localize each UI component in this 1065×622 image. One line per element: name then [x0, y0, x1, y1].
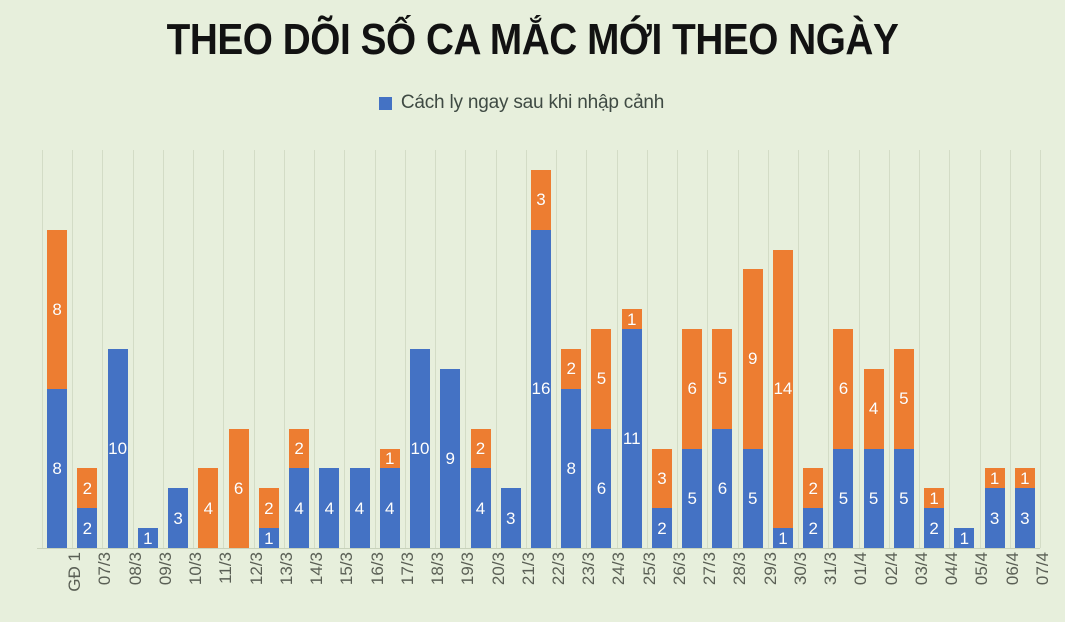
vertical-gridline — [465, 150, 466, 548]
bar-column[interactable]: 65 — [833, 329, 853, 548]
bar-value-label: 2 — [808, 480, 817, 497]
x-tick-label-text: 02/4 — [882, 552, 902, 585]
vertical-gridline — [405, 150, 406, 548]
x-tick-label: 20/3 — [489, 552, 509, 585]
bar-value-label: 1 — [929, 490, 938, 507]
bar-value-label: 8 — [52, 460, 61, 477]
bar-value-label: 6 — [687, 380, 696, 397]
bar-column[interactable]: 141 — [773, 250, 793, 549]
bar-value-label: 3 — [173, 510, 182, 527]
bar-segment-orange[interactable]: 1 — [985, 468, 1005, 488]
bar-column[interactable]: 21 — [259, 488, 279, 548]
bar-value-label: 3 — [536, 191, 545, 208]
bar-column[interactable]: 28 — [561, 349, 581, 548]
x-tick-label-text: 26/3 — [670, 552, 690, 585]
bar-value-label: 2 — [929, 520, 938, 537]
vertical-gridline — [586, 150, 587, 548]
vertical-gridline — [435, 150, 436, 548]
x-tick-label: GĐ 1 — [65, 552, 85, 592]
vertical-gridline — [707, 150, 708, 548]
x-tick-label-text: 01/4 — [851, 552, 871, 585]
bar-segment-blue[interactable]: 10 — [410, 349, 430, 548]
bar-value-label: 2 — [657, 520, 666, 537]
bar-segment-orange[interactable]: 1 — [622, 309, 642, 329]
bar-segment-orange[interactable]: 6 — [833, 329, 853, 448]
x-tick-label: 23/3 — [579, 552, 599, 585]
bar-column[interactable]: 6 — [229, 429, 249, 548]
x-tick-label-text: 20/3 — [489, 552, 509, 585]
vertical-gridline — [859, 150, 860, 548]
bar-segment-blue[interactable]: 1 — [138, 528, 158, 548]
bar-segment-blue[interactable]: 5 — [894, 449, 914, 549]
x-tick-label-text: 18/3 — [428, 552, 448, 585]
x-axis-baseline — [37, 548, 1040, 549]
vertical-gridline — [798, 150, 799, 548]
vertical-gridline — [919, 150, 920, 548]
bar-segment-orange[interactable]: 1 — [924, 488, 944, 508]
vertical-gridline — [72, 150, 73, 548]
x-tick-label: 03/4 — [912, 552, 932, 585]
bar-column[interactable]: 10 — [108, 349, 128, 548]
x-tick-label: 29/3 — [761, 552, 781, 585]
bar-column[interactable]: 9 — [440, 369, 460, 548]
x-tick-label: 09/3 — [156, 552, 176, 585]
bar-value-label: 10 — [411, 440, 430, 457]
bar-segment-orange[interactable]: 3 — [531, 170, 551, 230]
bar-segment-blue[interactable]: 9 — [440, 369, 460, 548]
vertical-gridline — [496, 150, 497, 548]
bar-segment-blue[interactable]: 6 — [591, 429, 611, 548]
bar-segment-blue[interactable]: 1 — [773, 528, 793, 548]
bar-value-label: 1 — [778, 530, 787, 547]
x-tick-label: 27/3 — [700, 552, 720, 585]
bar-segment-orange[interactable]: 5 — [894, 349, 914, 449]
x-tick-label: 10/3 — [186, 552, 206, 585]
x-tick-label-text: 08/3 — [126, 552, 146, 585]
bar-column[interactable]: 65 — [682, 329, 702, 548]
x-tick-label-text: 12/3 — [247, 552, 267, 585]
x-tick-label-text: 04/4 — [942, 552, 962, 585]
bar-column[interactable]: 3 — [501, 488, 521, 548]
x-tick-label-text: 07/3 — [95, 552, 115, 585]
bar-value-label: 2 — [567, 360, 576, 377]
bar-value-label: 5 — [839, 490, 848, 507]
x-tick-label-text: 19/3 — [458, 552, 478, 585]
bar-segment-blue[interactable]: 11 — [622, 329, 642, 548]
bar-segment-blue[interactable]: 8 — [561, 389, 581, 548]
x-tick-label-text: 13/3 — [277, 552, 297, 585]
bar-value-label: 1 — [990, 470, 999, 487]
x-tick-label-text: 05/4 — [972, 552, 992, 585]
bar-column[interactable]: 1 — [954, 528, 974, 548]
bar-value-label: 2 — [264, 500, 273, 517]
bar-segment-blue[interactable]: 16 — [531, 230, 551, 548]
bar-column[interactable]: 1 — [138, 528, 158, 548]
x-tick-label-text: 10/3 — [186, 552, 206, 585]
bar-value-label: 16 — [532, 380, 551, 397]
bar-segment-orange[interactable]: 14 — [773, 250, 793, 529]
vertical-gridline — [828, 150, 829, 548]
bar-column[interactable]: 111 — [622, 309, 642, 548]
x-tick-label: 08/3 — [126, 552, 146, 585]
bar-column[interactable]: 95 — [743, 269, 763, 548]
bar-value-label: 4 — [385, 500, 394, 517]
x-tick-label: 07/4 — [1033, 552, 1053, 585]
bar-value-label: 4 — [204, 500, 213, 517]
bar-segment-blue[interactable]: 4 — [350, 468, 370, 548]
bar-segment-blue[interactable]: 2 — [924, 508, 944, 548]
bar-column[interactable]: 55 — [894, 349, 914, 548]
bar-segment-blue[interactable]: 3 — [501, 488, 521, 548]
bar-value-label: 10 — [108, 440, 127, 457]
x-tick-label-text: 14/3 — [307, 552, 327, 585]
x-tick-label: 11/3 — [216, 552, 236, 584]
bar-segment-blue[interactable]: 4 — [319, 468, 339, 548]
bar-column[interactable]: 4 — [350, 468, 370, 548]
bar-column[interactable]: 12 — [924, 488, 944, 548]
vertical-gridline — [1010, 150, 1011, 548]
bar-segment-orange[interactable]: 2 — [77, 468, 97, 508]
chart-title: THEO DÕI SỐ CA MẮC MỚI THEO NGÀY — [64, 14, 1001, 66]
bar-value-label: 9 — [446, 450, 455, 467]
bar-segment-blue[interactable]: 3 — [168, 488, 188, 548]
bar-column[interactable]: 4 — [198, 468, 218, 548]
vertical-gridline — [375, 150, 376, 548]
bar-column[interactable]: 3 — [168, 488, 188, 548]
bar-value-label: 2 — [83, 520, 92, 537]
vertical-gridline — [102, 150, 103, 548]
bar-value-label: 5 — [899, 490, 908, 507]
bar-value-label: 1 — [627, 311, 636, 328]
x-tick-label: 12/3 — [247, 552, 267, 585]
bar-segment-blue[interactable]: 5 — [864, 449, 884, 549]
bar-segment-blue[interactable]: 4 — [289, 468, 309, 548]
x-tick-label-text: 22/3 — [549, 552, 569, 585]
x-tick-label-text: 27/3 — [700, 552, 720, 585]
bar-segment-orange[interactable]: 2 — [289, 429, 309, 469]
bar-column[interactable]: 45 — [864, 369, 884, 548]
bar-segment-blue[interactable]: 2 — [652, 508, 672, 548]
bar-segment-orange[interactable]: 2 — [561, 349, 581, 389]
vertical-gridline — [344, 150, 345, 548]
bar-value-label: 4 — [476, 500, 485, 517]
x-tick-label: 21/3 — [519, 552, 539, 585]
bar-segment-orange[interactable]: 3 — [652, 449, 672, 509]
bar-segment-blue[interactable]: 3 — [1015, 488, 1035, 548]
x-tick-label-text: 03/4 — [912, 552, 932, 585]
bar-segment-orange[interactable]: 4 — [864, 369, 884, 449]
bar-value-label: 2 — [808, 520, 817, 537]
vertical-gridline — [314, 150, 315, 548]
vertical-gridline — [42, 150, 43, 548]
bar-value-label: 3 — [657, 470, 666, 487]
bar-segment-orange[interactable]: 1 — [1015, 468, 1035, 488]
x-tick-label: 07/3 — [95, 552, 115, 585]
bar-segment-blue[interactable]: 2 — [803, 508, 823, 548]
x-tick-label-text: 09/3 — [156, 552, 176, 585]
vertical-gridline — [556, 150, 557, 548]
x-tick-label-text: 29/3 — [761, 552, 781, 585]
x-tick-label: 22/3 — [549, 552, 569, 585]
x-tick-label-text: 30/3 — [791, 552, 811, 585]
bar-value-label: 4 — [294, 500, 303, 517]
bar-segment-blue[interactable]: 3 — [985, 488, 1005, 548]
bar-segment-orange[interactable]: 2 — [259, 488, 279, 528]
vertical-gridline — [163, 150, 164, 548]
bar-segment-blue[interactable]: 5 — [743, 449, 763, 549]
x-tick-label: 30/3 — [791, 552, 811, 585]
x-tick-label: 02/4 — [882, 552, 902, 585]
vertical-gridline — [526, 150, 527, 548]
bar-segment-blue[interactable]: 8 — [47, 389, 67, 548]
chart-legend: Cách ly ngay sau khi nhập cảnh — [0, 92, 1054, 114]
x-tick-label-text: 31/3 — [821, 552, 841, 585]
vertical-gridline — [193, 150, 194, 548]
vertical-gridline — [889, 150, 890, 548]
bar-column[interactable]: 32 — [652, 449, 672, 549]
x-tick-label-text: 17/3 — [398, 552, 418, 585]
bar-value-label: 14 — [773, 380, 792, 397]
bar-value-label: 6 — [234, 480, 243, 497]
x-tick-label-text: GĐ 1 — [65, 552, 85, 592]
vertical-gridline — [738, 150, 739, 548]
vertical-gridline — [284, 150, 285, 548]
bar-segment-blue[interactable]: 2 — [77, 508, 97, 548]
vertical-gridline — [647, 150, 648, 548]
bar-segment-blue[interactable]: 4 — [471, 468, 491, 548]
bar-segment-orange[interactable]: 8 — [47, 230, 67, 389]
x-tick-label: 25/3 — [640, 552, 660, 585]
bar-segment-orange[interactable]: 6 — [229, 429, 249, 548]
bar-value-label: 2 — [294, 440, 303, 457]
x-tick-label: 24/3 — [609, 552, 629, 585]
plot-area: 8822101346212444141092433162856111326556… — [42, 150, 1040, 548]
vertical-gridline — [617, 150, 618, 548]
bar-value-label: 1 — [385, 450, 394, 467]
x-tick-label-text: 25/3 — [640, 552, 660, 585]
bar-segment-orange[interactable]: 2 — [471, 429, 491, 469]
x-tick-label-text: 15/3 — [337, 552, 357, 585]
x-tick-label: 26/3 — [670, 552, 690, 585]
bar-column[interactable]: 22 — [77, 468, 97, 548]
bar-value-label: 6 — [839, 380, 848, 397]
x-tick-label: 17/3 — [398, 552, 418, 585]
vertical-gridline — [223, 150, 224, 548]
bar-value-label: 8 — [52, 301, 61, 318]
bar-value-label: 11 — [623, 430, 641, 447]
bar-column[interactable]: 88 — [47, 230, 67, 548]
bar-value-label: 1 — [143, 530, 152, 547]
x-tick-label: 31/3 — [821, 552, 841, 585]
bar-segment-blue[interactable]: 10 — [108, 349, 128, 548]
bar-value-label: 3 — [1020, 510, 1029, 527]
x-tick-label: 06/4 — [1003, 552, 1023, 585]
bar-value-label: 4 — [355, 500, 364, 517]
bar-column[interactable]: 22 — [803, 468, 823, 548]
x-tick-label-text: 07/4 — [1033, 552, 1053, 585]
vertical-gridline — [254, 150, 255, 548]
bar-column[interactable]: 56 — [712, 329, 732, 548]
bar-value-label: 6 — [597, 480, 606, 497]
bar-column[interactable]: 13 — [1015, 468, 1035, 548]
x-tick-label: 18/3 — [428, 552, 448, 585]
bar-segment-blue[interactable]: 4 — [380, 468, 400, 548]
x-tick-label-text: 06/4 — [1003, 552, 1023, 585]
bar-column[interactable]: 10 — [410, 349, 430, 548]
x-tick-label: 28/3 — [730, 552, 750, 585]
bar-value-label: 4 — [869, 400, 878, 417]
bar-value-label: 5 — [899, 390, 908, 407]
bar-value-label: 1 — [1020, 470, 1029, 487]
bar-value-label: 5 — [687, 490, 696, 507]
x-tick-label: 16/3 — [368, 552, 388, 585]
bar-value-label: 8 — [567, 460, 576, 477]
bar-value-label: 2 — [83, 480, 92, 497]
x-tick-label: 15/3 — [337, 552, 357, 585]
plot-area-wrapper: 8822101346212444141092433162856111326556… — [42, 150, 1040, 548]
x-tick-label: 13/3 — [277, 552, 297, 585]
x-tick-label-text: 21/3 — [519, 552, 539, 585]
bar-column[interactable]: 316 — [531, 170, 551, 548]
x-tick-label-text: 28/3 — [730, 552, 750, 585]
vertical-gridline — [949, 150, 950, 548]
x-axis-labels: GĐ 107/308/309/310/311/312/313/314/315/3… — [42, 550, 1040, 622]
legend-label: Cách ly ngay sau khi nhập cảnh — [401, 92, 664, 114]
bar-column[interactable]: 4 — [319, 468, 339, 548]
bar-column[interactable]: 56 — [591, 329, 611, 548]
bar-segment-orange[interactable]: 9 — [743, 269, 763, 448]
bar-segment-orange[interactable]: 4 — [198, 468, 218, 548]
x-tick-label: 19/3 — [458, 552, 478, 585]
bar-segment-blue[interactable]: 6 — [712, 429, 732, 548]
vertical-gridline — [677, 150, 678, 548]
vertical-gridline — [133, 150, 134, 548]
bar-value-label: 3 — [506, 510, 515, 527]
bar-value-label: 4 — [325, 500, 334, 517]
bar-segment-blue[interactable]: 1 — [259, 528, 279, 548]
x-tick-label-text: 11/3 — [216, 552, 236, 584]
bar-segment-orange[interactable]: 5 — [712, 329, 732, 429]
bar-segment-orange[interactable]: 2 — [803, 468, 823, 508]
x-tick-label: 04/4 — [942, 552, 962, 585]
bar-value-label: 5 — [597, 370, 606, 387]
bar-segment-orange[interactable]: 5 — [591, 329, 611, 429]
bar-value-label: 5 — [718, 370, 727, 387]
x-tick-label-text: 24/3 — [609, 552, 629, 585]
bar-value-label: 9 — [748, 350, 757, 367]
x-tick-label-text: 16/3 — [368, 552, 388, 585]
bar-segment-blue[interactable]: 1 — [954, 528, 974, 548]
bar-column[interactable]: 24 — [289, 429, 309, 548]
bar-value-label: 1 — [960, 530, 969, 547]
bar-segment-orange[interactable]: 6 — [682, 329, 702, 448]
bar-value-label: 2 — [476, 440, 485, 457]
vertical-gridline — [980, 150, 981, 548]
bar-value-label: 3 — [990, 510, 999, 527]
legend-swatch-blue — [379, 97, 392, 110]
x-tick-label: 14/3 — [307, 552, 327, 585]
x-tick-label: 05/4 — [972, 552, 992, 585]
x-tick-label-text: 23/3 — [579, 552, 599, 585]
bar-segment-blue[interactable]: 5 — [833, 449, 853, 549]
bar-value-label: 5 — [869, 490, 878, 507]
bar-value-label: 6 — [718, 480, 727, 497]
bar-value-label: 1 — [264, 530, 273, 547]
bar-value-label: 5 — [748, 490, 757, 507]
bar-column[interactable]: 13 — [985, 468, 1005, 548]
x-tick-label: 01/4 — [851, 552, 871, 585]
bar-column[interactable]: 14 — [380, 449, 400, 549]
vertical-gridline — [768, 150, 769, 548]
bar-segment-blue[interactable]: 5 — [682, 449, 702, 549]
bar-segment-orange[interactable]: 1 — [380, 449, 400, 469]
bar-column[interactable]: 24 — [471, 429, 491, 548]
vertical-gridline — [1040, 150, 1041, 548]
